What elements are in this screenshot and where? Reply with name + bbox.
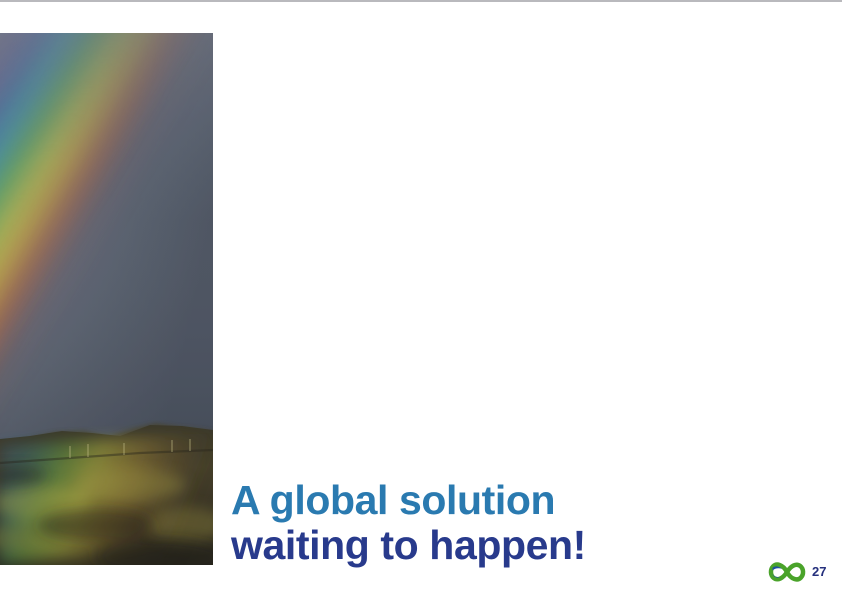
slide-title: A global solution waiting to happen! [231, 478, 821, 568]
slide-footer: 27 [768, 561, 826, 583]
page-top-rule [0, 0, 842, 2]
page-number: 27 [812, 565, 826, 579]
slide: A global solution waiting to happen! 27 [0, 0, 842, 595]
photo-artwork [0, 33, 213, 565]
slide-title-line-2: waiting to happen! [231, 523, 821, 568]
infinity-logo-icon [768, 561, 806, 583]
rainbow-landscape-photo [0, 33, 213, 565]
slide-title-line-1: A global solution [231, 478, 821, 523]
